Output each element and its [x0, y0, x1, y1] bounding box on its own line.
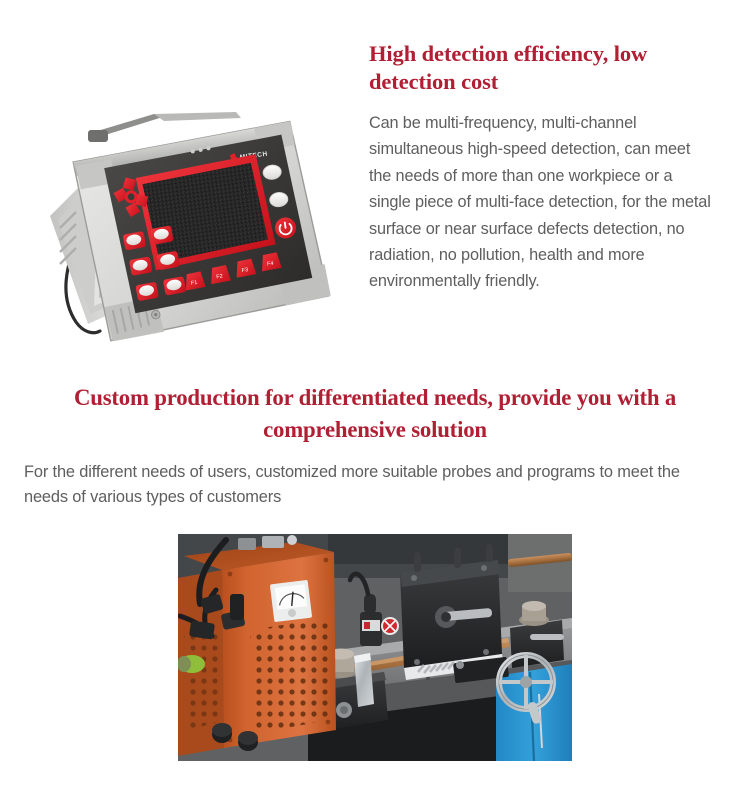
analog-meter	[270, 580, 312, 622]
flaw-detector-photo: MITECH	[36, 108, 336, 348]
svg-text:F3: F3	[241, 267, 248, 274]
section-one-body: Can be multi-frequency, multi-channel si…	[369, 110, 714, 295]
page-root: MITECH	[0, 0, 750, 802]
section-two-heading: Custom production for differentiated nee…	[22, 382, 728, 446]
svg-text:F4: F4	[267, 261, 274, 268]
testing-line-photo	[178, 534, 572, 761]
green-connector	[178, 655, 205, 673]
section-detection-efficiency: MITECH	[0, 0, 750, 380]
device-body: MITECH	[72, 119, 333, 343]
detection-text-column: High detection efficiency, low detection…	[369, 40, 714, 295]
section-custom-production: Custom production for differentiated nee…	[0, 382, 750, 510]
svg-text:F2: F2	[216, 274, 223, 281]
section-one-heading: High detection efficiency, low detection…	[369, 40, 714, 96]
section-two-body: For the different needs of users, custom…	[24, 460, 724, 510]
flaw-detector-illustration: MITECH	[36, 108, 336, 348]
svg-text:F1: F1	[191, 280, 198, 287]
testing-line-illustration	[178, 534, 572, 761]
